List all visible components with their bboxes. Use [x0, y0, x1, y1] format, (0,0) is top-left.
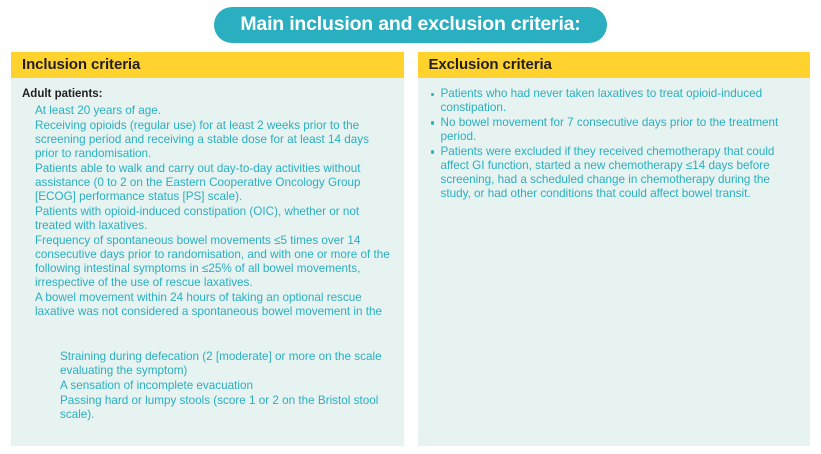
list-item: Patients with opioid-induced constipatio…	[35, 205, 392, 233]
exclusion-body: Patients who had never taken laxatives t…	[418, 78, 811, 446]
list-item: Patients who had never taken laxatives t…	[429, 87, 799, 115]
inclusion-list: At least 20 years of age. Receiving opio…	[22, 104, 392, 320]
inclusion-header: Inclusion criteria	[11, 52, 404, 78]
list-item: A bowel movement within 24 hours of taki…	[35, 291, 392, 319]
inclusion-panel: Inclusion criteria Adult patients: At le…	[11, 52, 404, 446]
exclusion-header: Exclusion criteria	[418, 52, 811, 78]
list-item: Receiving opioids (regular use) for at l…	[35, 119, 392, 162]
exclusion-panel: Exclusion criteria Patients who had neve…	[418, 52, 811, 446]
title-bar: Main inclusion and exclusion criteria:	[0, 0, 821, 46]
criteria-columns: Inclusion criteria Adult patients: At le…	[0, 52, 821, 446]
inclusion-sub-list: Straining during defecation (2 [moderate…	[22, 350, 392, 422]
list-item: At least 20 years of age.	[35, 104, 392, 118]
inclusion-body: Adult patients: At least 20 years of age…	[11, 78, 404, 446]
list-spacer	[22, 320, 392, 350]
list-item: Frequency of spontaneous bowel movements…	[35, 234, 392, 291]
inclusion-group-title: Adult patients:	[22, 87, 392, 102]
list-item: No bowel movement for 7 consecutive days…	[429, 116, 799, 144]
list-item: Patients were excluded if they received …	[429, 145, 799, 202]
list-item: Patients able to walk and carry out day-…	[35, 162, 392, 205]
page-title: Main inclusion and exclusion criteria:	[214, 7, 606, 43]
list-item: Straining during defecation (2 [moderate…	[60, 350, 392, 378]
list-item: A sensation of incomplete evacuation	[60, 379, 392, 393]
exclusion-list: Patients who had never taken laxatives t…	[429, 87, 799, 202]
list-item: Passing hard or lumpy stools (score 1 or…	[60, 394, 392, 422]
